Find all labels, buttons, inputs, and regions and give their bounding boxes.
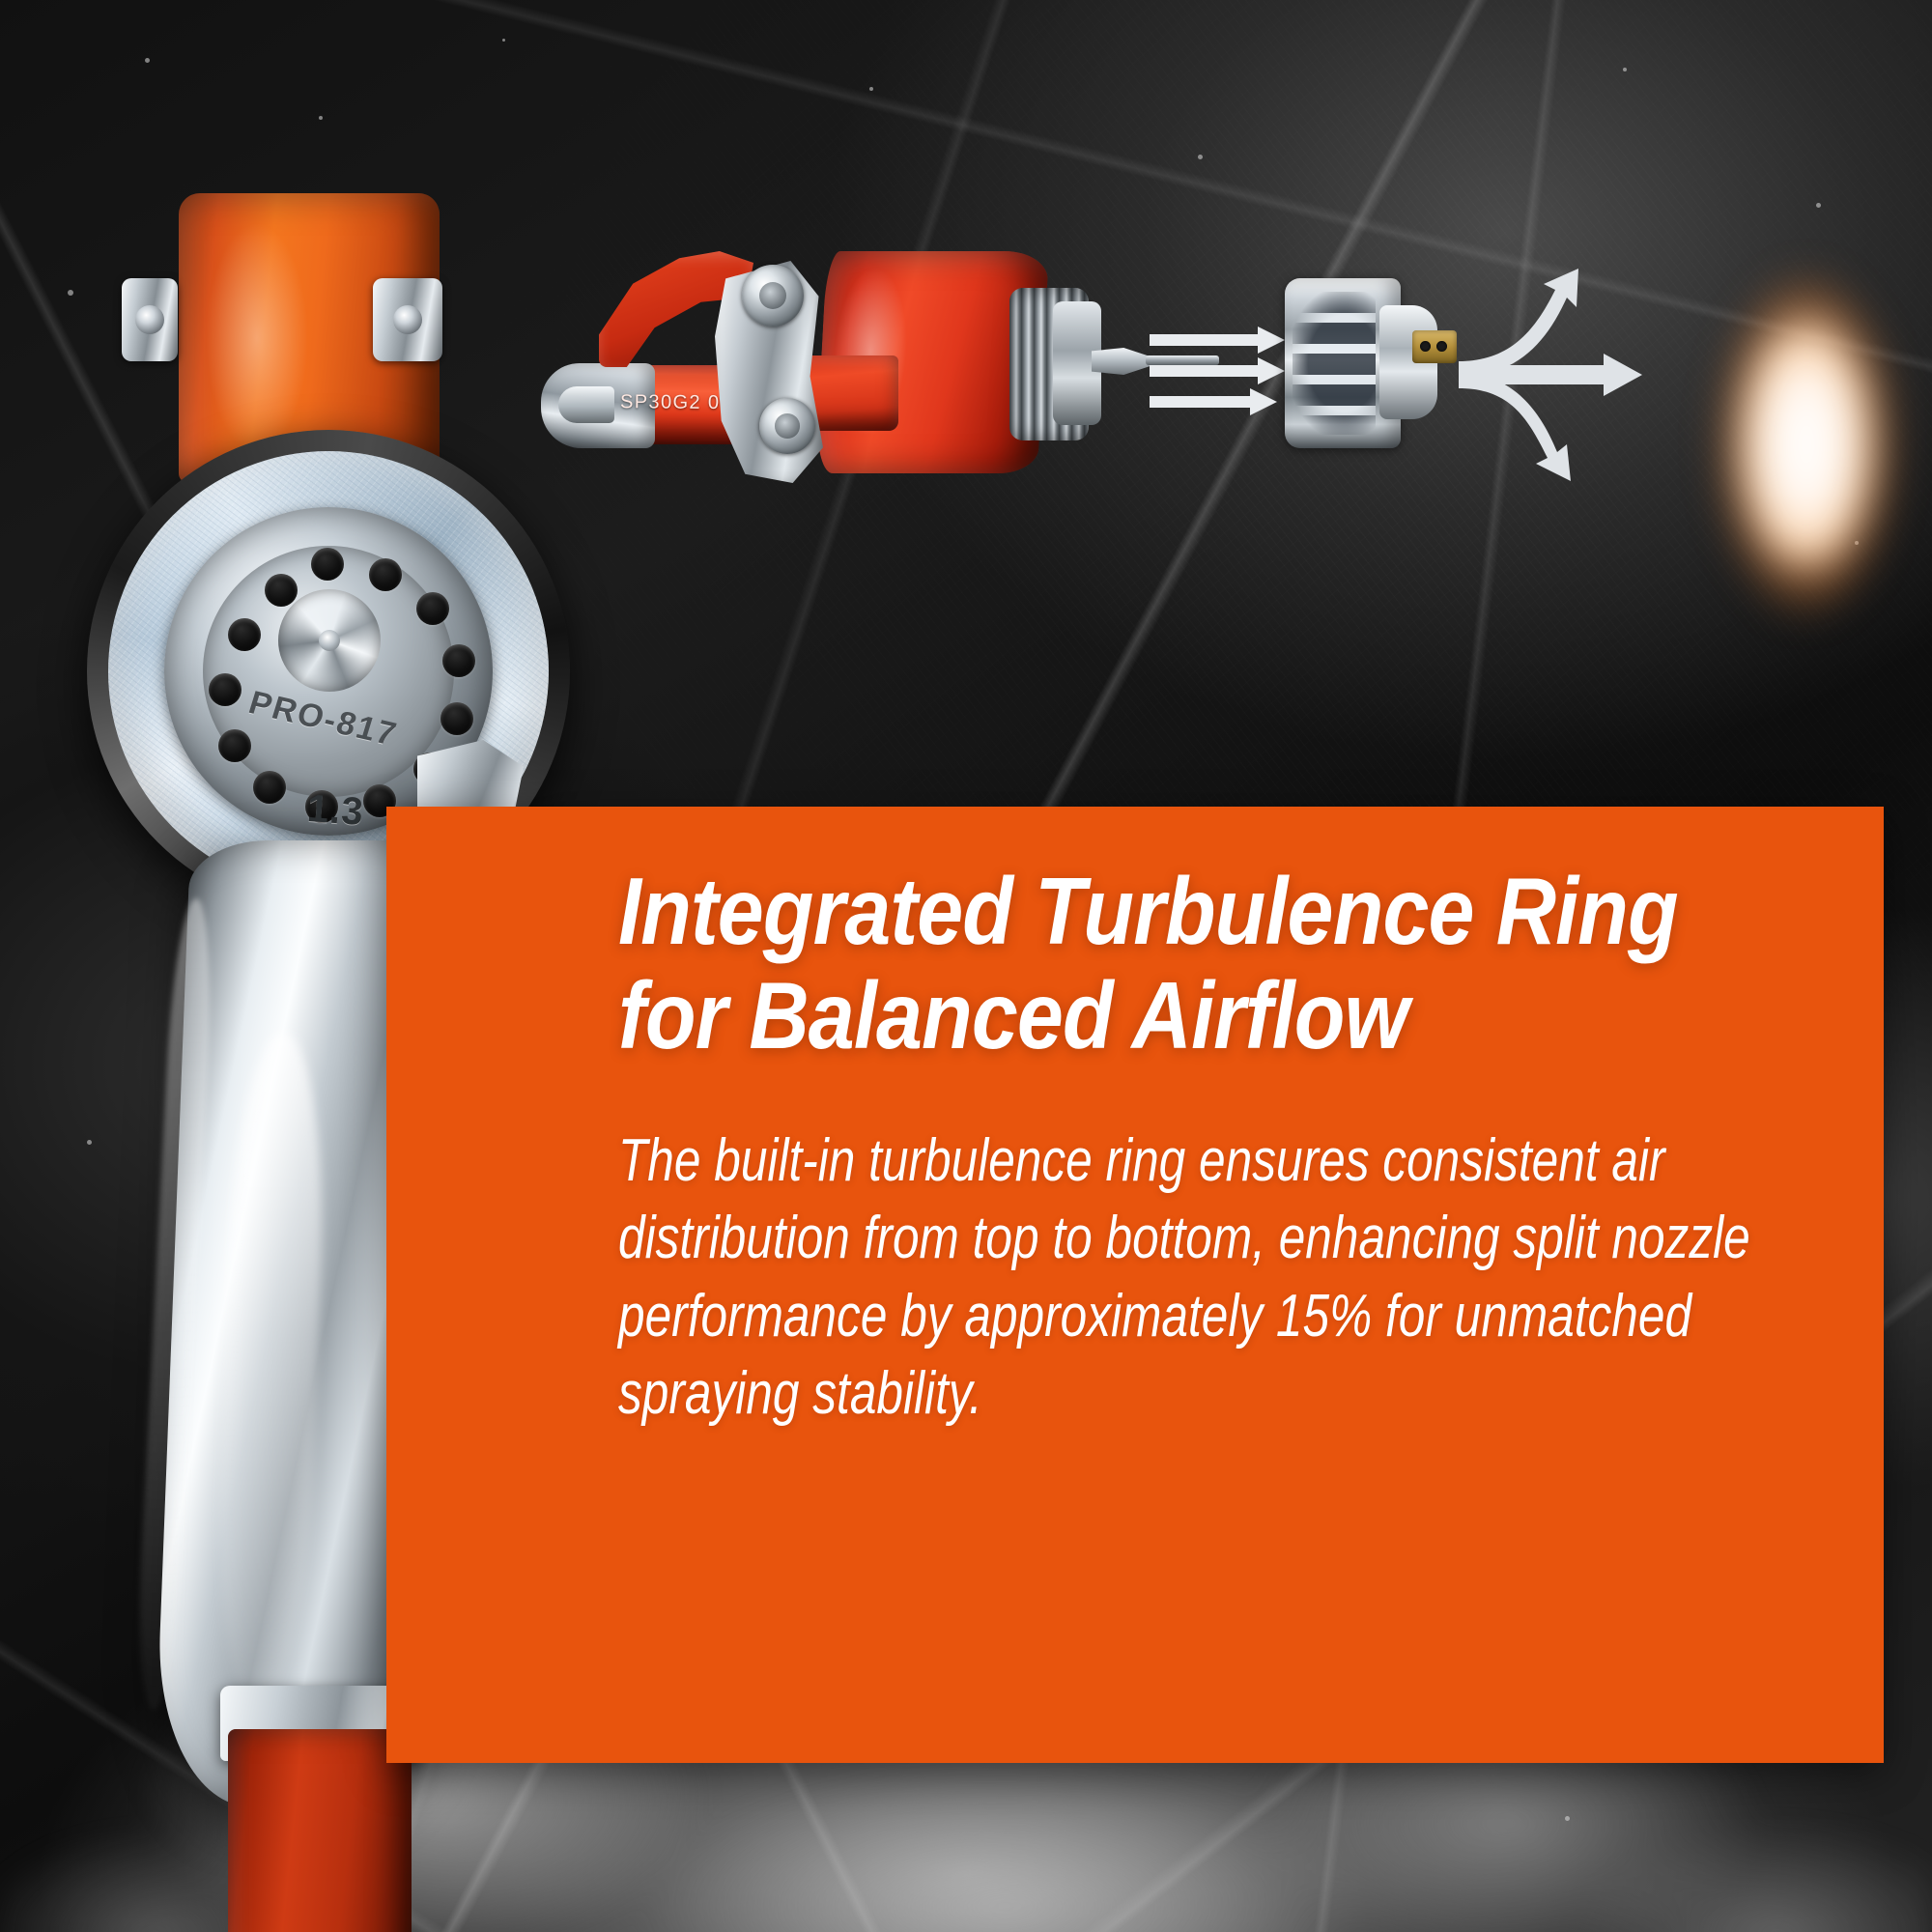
air-hole: [369, 558, 402, 591]
gun-air-inlet-red-base: [228, 1729, 412, 1932]
feature-text-content: Integrated Turbulence Ring for Balanced …: [618, 860, 1828, 1493]
turbulence-ring-vanes: [1293, 292, 1376, 435]
air-hole: [442, 644, 475, 677]
exploded-spray-gun-illustration: SP30G2 0001: [570, 241, 1362, 560]
trigger-pivot-pin-upper: [742, 265, 804, 327]
gun-bolt-right: [373, 278, 442, 361]
nozzle-core: [278, 589, 381, 692]
air-cap-horn-ports: [1412, 330, 1457, 363]
air-hole: [253, 771, 286, 804]
product-feature-banner: SP30G2 0001: [0, 0, 1932, 1932]
feature-text-panel: Integrated Turbulence Ring for Balanced …: [386, 807, 1884, 1763]
nozzle-size-engraving: 1.3: [306, 787, 396, 837]
feature-description: The built-in turbulence ring ensures con…: [618, 1122, 1828, 1434]
gun-bolt-left: [122, 278, 178, 361]
air-hole: [440, 702, 473, 735]
air-hole: [209, 673, 241, 706]
fluid-needle-tip: [1092, 348, 1153, 375]
outlet-airflow-arrows: [1459, 269, 1690, 481]
inlet-arrows-svg: [1150, 325, 1304, 417]
trigger-pivot-pin-lower: [759, 398, 815, 454]
air-hole: [311, 548, 344, 581]
spray-plume-glow: [1662, 241, 1932, 647]
air-hole: [218, 729, 251, 762]
air-hole: [228, 618, 261, 651]
air-hole: [416, 592, 449, 625]
outlet-arrows-svg: [1459, 269, 1690, 481]
feature-title: Integrated Turbulence Ring for Balanced …: [618, 860, 1683, 1068]
inlet-airflow-arrows: [1150, 325, 1304, 417]
air-hole: [265, 574, 298, 607]
